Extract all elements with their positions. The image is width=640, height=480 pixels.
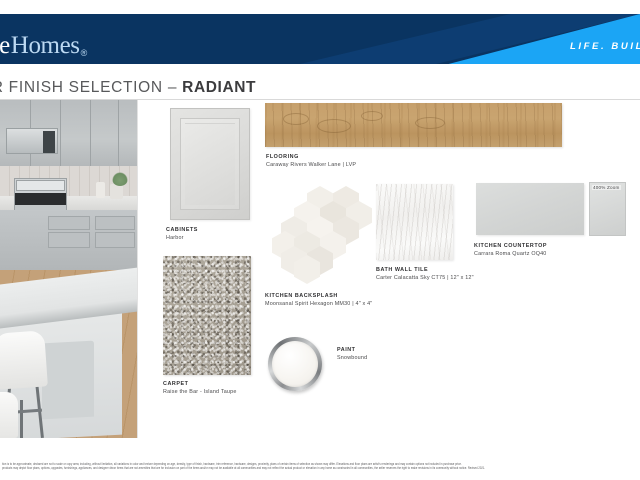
cabinets-title: CABINETS	[166, 226, 198, 234]
kitchen-countertop-swatch	[476, 183, 584, 235]
paint-label: PAINT Snowbound	[337, 346, 367, 363]
flooring-title: FLOORING	[266, 153, 356, 161]
kitchen-countertop-subtitle: Carrara Roma Quartz OQ40	[474, 250, 547, 258]
kitchen-backsplash-title: KITCHEN BACKSPLASH	[265, 292, 372, 300]
carpet-swatch	[163, 256, 251, 375]
logo-trademark: ®	[81, 48, 88, 58]
kitchen-backsplash-label: KITCHEN BACKSPLASH Moonsanal Spirit Hexa…	[265, 292, 372, 309]
photo-divider	[137, 100, 138, 438]
carpet-subtitle: Raise the Bar - Island Taupe	[163, 388, 237, 396]
bath-wall-tile-label: BATH WALL TILE Carter Calacatta Sky CT75…	[376, 266, 474, 283]
paint-swatch	[268, 337, 322, 391]
flooring-label: FLOORING Caraway Rivers Walker Lane | LV…	[266, 153, 356, 170]
brand-tagline: LIFE. BUIL	[570, 41, 640, 52]
company-logo: ge Homes ®	[0, 22, 87, 58]
kitchen-interior-photo	[0, 100, 137, 438]
flooring-subtitle: Caraway Rivers Walker Lane | LVP	[266, 161, 356, 169]
interior-finish-selection-page: ge Homes ® LIFE. BUIL IOR FINISH SELECTI…	[0, 0, 640, 480]
logo-text-left: ge	[0, 33, 10, 58]
kitchen-backsplash-swatch	[272, 186, 368, 284]
kitchen-countertop-zoom-tag: 400% Zoom	[592, 185, 621, 190]
paint-subtitle: Snowbound	[337, 354, 367, 362]
carpet-title: CARPET	[163, 380, 237, 388]
bath-wall-tile-subtitle: Carter Calacatta Sky CT75 | 12" x 12"	[376, 274, 474, 282]
page-title: IOR FINISH SELECTION – RADIANT	[0, 79, 256, 97]
page-title-plan: RADIANT	[182, 79, 256, 96]
footer-line-2: products may depict floor plans, options…	[2, 467, 638, 472]
logo-text-right: Homes	[11, 33, 80, 58]
kitchen-backsplash-subtitle: Moonsanal Spirit Hexagon MM30 | 4" x 4"	[265, 300, 372, 308]
kitchen-countertop-zoom-swatch	[589, 182, 626, 236]
cabinets-subtitle: Harbor	[166, 234, 198, 242]
cabinets-label: CABINETS Harbor	[166, 226, 198, 243]
brand-header: ge Homes ® LIFE. BUIL	[0, 14, 640, 64]
kitchen-countertop-title: KITCHEN COUNTERTOP	[474, 242, 547, 250]
kitchen-countertop-label: KITCHEN COUNTERTOP Carrara Roma Quartz O…	[474, 242, 547, 259]
bath-wall-tile-swatch	[376, 184, 453, 260]
cabinets-swatch	[170, 108, 250, 220]
carpet-label: CARPET Raise the Bar - Island Taupe	[163, 380, 237, 397]
bath-wall-tile-title: BATH WALL TILE	[376, 266, 474, 274]
bottom-margin	[0, 472, 640, 480]
paint-color-fill	[272, 341, 318, 387]
footer-disclaimer: tion is to be approximate, declared are …	[0, 463, 640, 473]
flooring-swatch	[265, 103, 562, 147]
top-margin	[0, 0, 640, 14]
paint-title: PAINT	[337, 346, 367, 354]
page-title-prefix: IOR FINISH SELECTION –	[0, 79, 182, 96]
